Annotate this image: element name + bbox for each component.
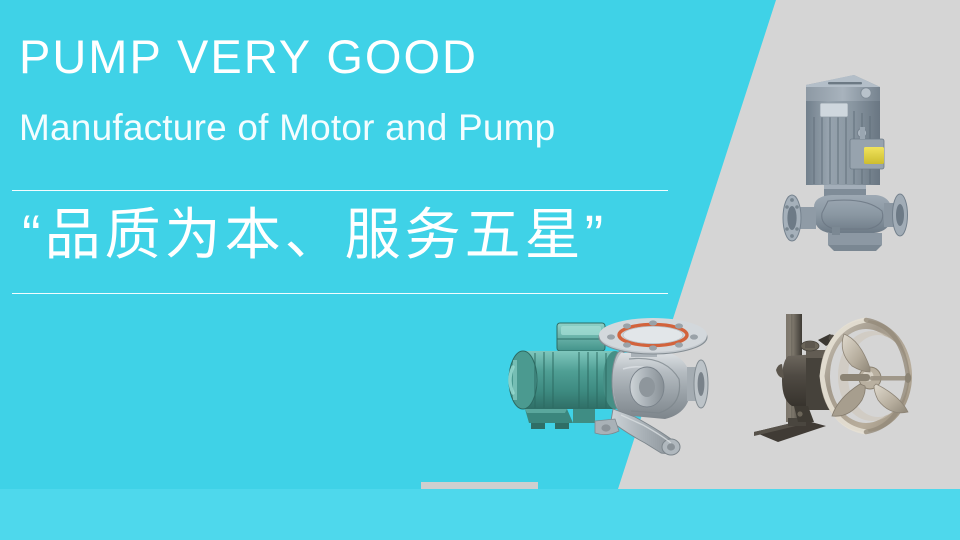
- gray-accent-tab: [421, 482, 538, 489]
- divider-below-slogan: [12, 293, 668, 294]
- page-subtitle: Manufacture of Motor and Pump: [19, 105, 555, 151]
- slogan-text: “品质为本、服务五星”: [22, 199, 607, 271]
- product-image-horizontal-motor-pump: [495, 305, 725, 460]
- product-image-submersible-mixer: [748, 300, 933, 450]
- divider-above-slogan: [12, 190, 668, 191]
- page-title: PUMP VERY GOOD: [19, 29, 478, 85]
- bottom-cyan-bar: [0, 489, 960, 540]
- promo-banner: PUMP VERY GOOD Manufacture of Motor and …: [0, 0, 960, 540]
- product-image-vertical-inline-pump: [770, 55, 930, 255]
